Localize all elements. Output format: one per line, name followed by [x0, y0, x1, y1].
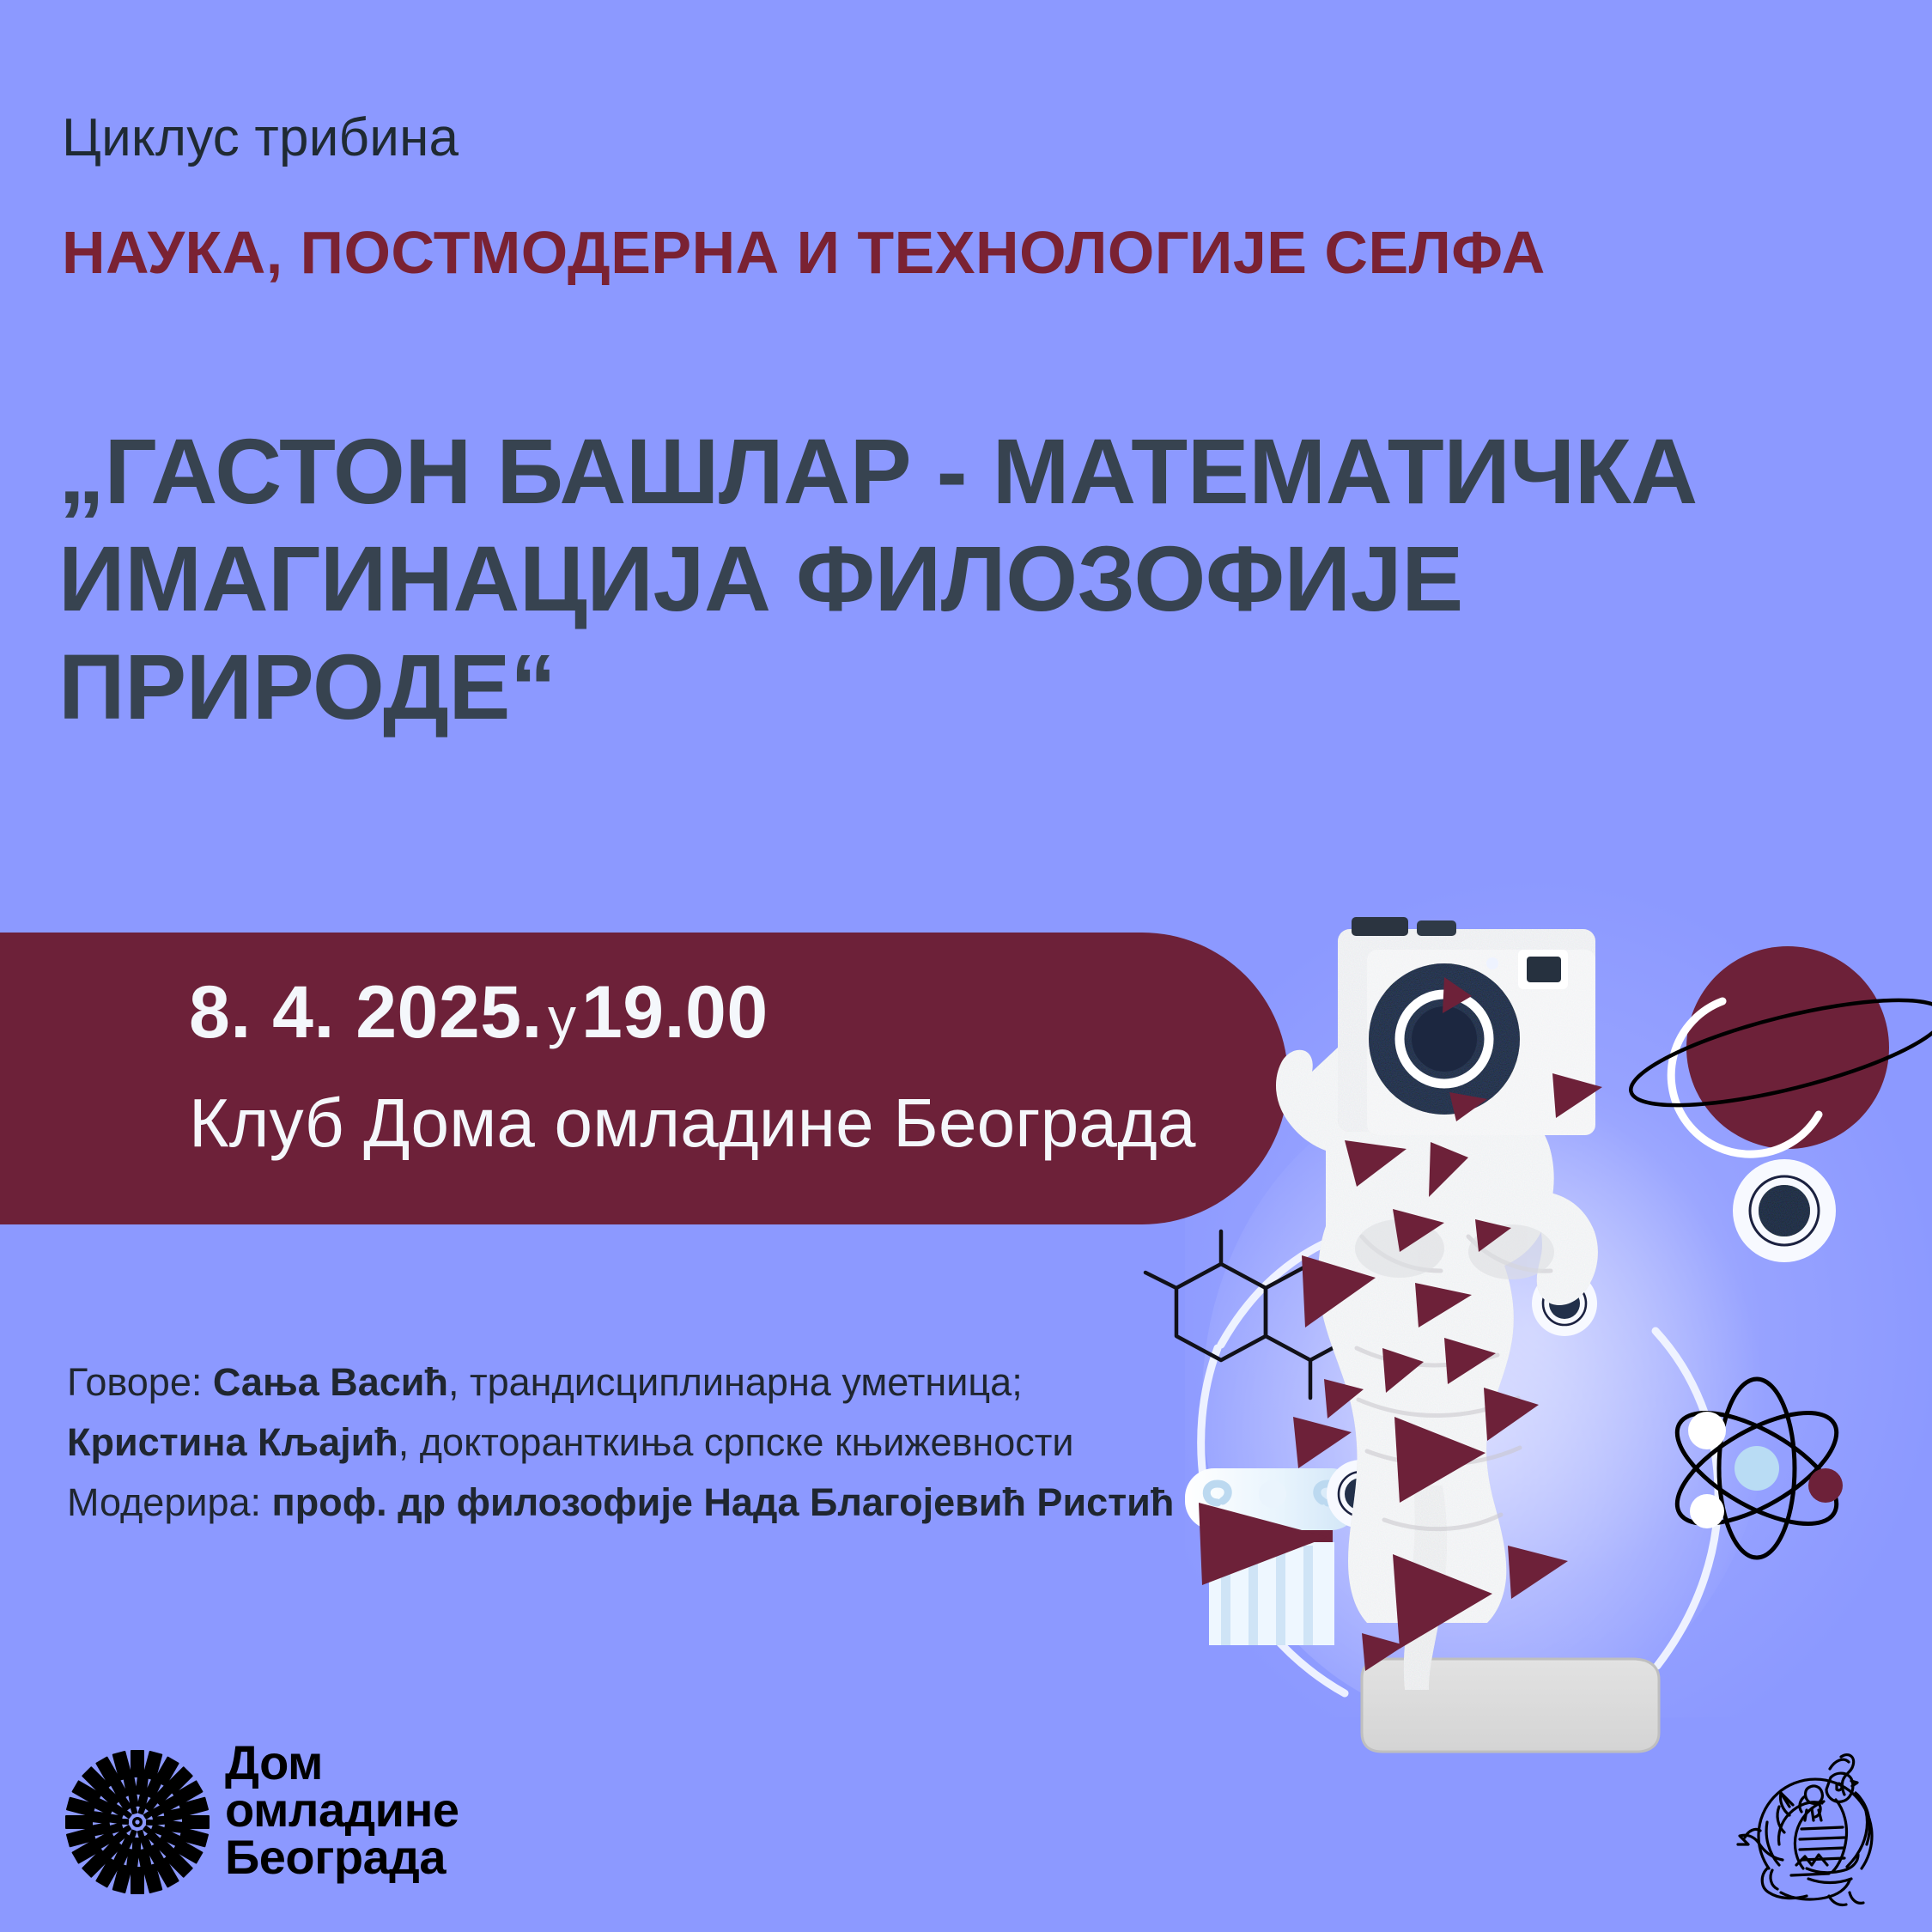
- series-title: НАУКА, ПОСТМОДЕРНА И ТЕХНОЛОГИЈЕ СЕЛФА: [62, 222, 1546, 285]
- speakers-line-3: Модерира: проф. др филозофије Нада Благо…: [67, 1473, 1295, 1533]
- logo-line-1: Дом: [225, 1740, 459, 1787]
- kicker-text: Циклус трибина: [62, 110, 459, 166]
- speakers-line-2: Кристина Кљајић, докторанткиња српске књ…: [67, 1413, 1295, 1473]
- title-line-1: „ГАСТОН БАШЛАР - МАТЕМАТИЧКА: [58, 417, 1862, 525]
- artwork-svg: [1142, 867, 1932, 1803]
- event-venue: Клуб Дома омладине Београда: [189, 1084, 1196, 1163]
- spiral-rosette-icon: [62, 1747, 213, 1898]
- dom-omladine-logo: Дом омладине Београда: [62, 1745, 422, 1908]
- event-time-separator: у: [543, 986, 581, 1049]
- logo-wordmark: Дом омладине Београда: [225, 1740, 459, 1881]
- saturn-planet-icon: [1622, 946, 1932, 1154]
- speaker-role-1: , трандисциплинарна уметница;: [448, 1360, 1023, 1404]
- logo-line-3: Београда: [225, 1834, 459, 1881]
- logo-line-2: омладине: [225, 1787, 459, 1834]
- page-title: „ГАСТОН БАШЛАР - МАТЕМАТИЧКА ИМАГИНАЦИЈА…: [58, 417, 1862, 740]
- moderator-prefix: Модерира:: [67, 1480, 272, 1524]
- title-line-2: ИМАГИНАЦИЈА ФИЛОЗОФИЈЕ: [58, 525, 1862, 632]
- poster-canvas: Циклус трибина НАУКА, ПОСТМОДЕРНА И ТЕХН…: [0, 0, 1932, 1932]
- event-datetime: 8. 4. 2025.у19.00: [189, 970, 769, 1055]
- event-time: 19.00: [581, 971, 769, 1054]
- speaker-role-2: , докторанткиња српске књижевности: [398, 1420, 1074, 1464]
- title-line-3: ПРИРОДЕ“: [58, 633, 1862, 740]
- speaker-name-1: Сања Васић: [213, 1360, 448, 1404]
- artwork-collage: [1142, 867, 1932, 1803]
- event-date: 8. 4. 2025.: [189, 971, 543, 1054]
- eye-icon: [1733, 1159, 1836, 1262]
- speakers-block: Говоре: Сања Васић, трандисциплинарна ум…: [67, 1352, 1295, 1534]
- speakers-prefix: Говоре:: [67, 1360, 213, 1404]
- speakers-line-1: Говоре: Сања Васић, трандисциплинарна ум…: [67, 1352, 1295, 1413]
- moderator-name: проф. др филозофије Нада Благојевић Рист…: [272, 1480, 1175, 1524]
- speaker-name-2: Кристина Кљајић: [67, 1420, 398, 1464]
